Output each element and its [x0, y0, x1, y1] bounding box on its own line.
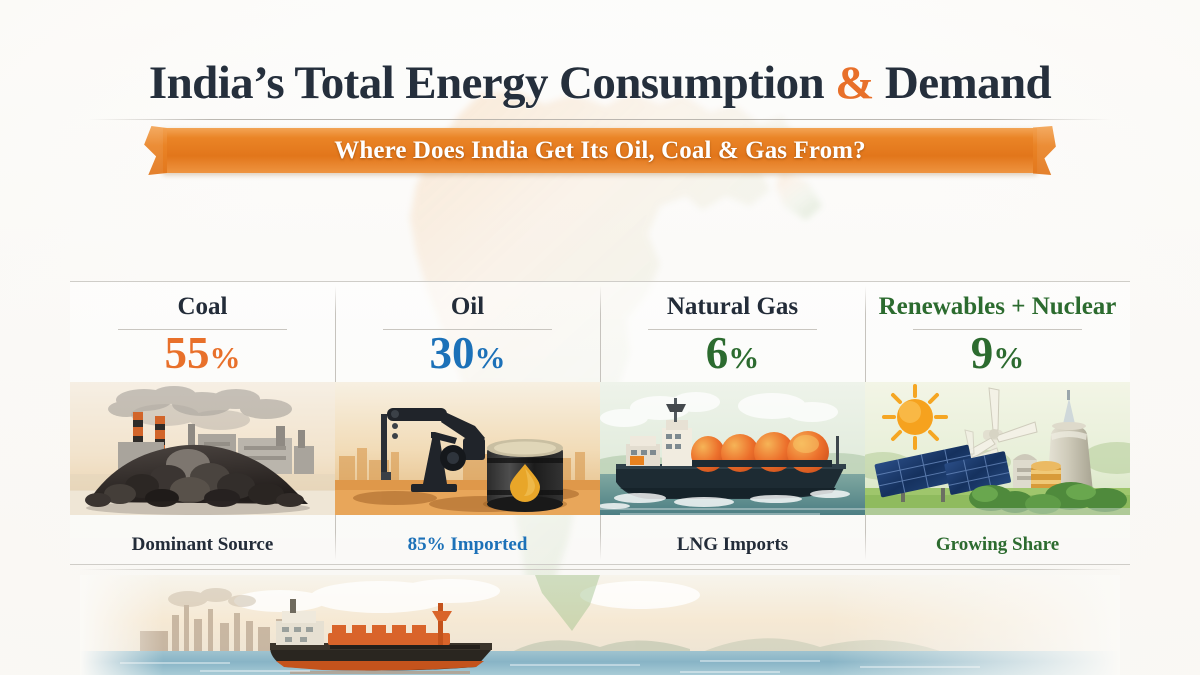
stat-caption-renewables-nuclear: Growing Share [865, 534, 1130, 556]
title-divider [88, 119, 1112, 120]
footer-divider [80, 569, 1120, 570]
stat-header-natural-gas: Natural Gas 6% [600, 282, 865, 378]
stat-unit-natural-gas: % [728, 340, 759, 375]
stat-label-coal: Coal [70, 293, 335, 321]
subtitle-banner-label: Where Does India Get Its Oil, Coal & Gas… [163, 128, 1037, 173]
energy-mix-columns: Coal 55% [70, 282, 1130, 564]
lng-carrier-ship-icon [600, 382, 865, 515]
stat-column-oil[interactable]: Oil 30% [335, 282, 600, 564]
stat-column-renewables-nuclear[interactable]: Renewables + Nuclear 9% [865, 282, 1130, 564]
title-text-secondary: Demand [874, 57, 1051, 109]
stat-number-natural-gas: 6 [706, 328, 729, 378]
stat-value-coal: 55% [70, 328, 335, 383]
stat-header-renewables-nuclear: Renewables + Nuclear 9% [865, 282, 1130, 378]
stat-unit-coal: % [210, 340, 241, 375]
infographic-canvas: India’s Total Energy Consumption & Deman… [0, 0, 1200, 675]
stat-number-oil: 30 [430, 328, 475, 378]
solar-wind-nuclear-icon [865, 382, 1130, 515]
stat-column-coal[interactable]: Coal 55% [70, 282, 335, 564]
stat-unit-renewables-nuclear: % [993, 340, 1024, 375]
stat-caption-coal: Dominant Source [70, 534, 335, 556]
stat-value-oil: 30% [335, 328, 600, 383]
stat-value-natural-gas: 6% [600, 328, 865, 383]
oil-tanker-refinery-seascape-icon [80, 575, 1120, 675]
oil-pumpjack-barrel-icon [335, 382, 600, 515]
stat-caption-oil: 85% Imported [335, 534, 600, 556]
stat-header-coal: Coal 55% [70, 282, 335, 378]
stat-value-renewables-nuclear: 9% [865, 328, 1130, 383]
stat-number-renewables-nuclear: 9 [971, 328, 994, 378]
title-ampersand: & [835, 57, 874, 109]
page-title: India’s Total Energy Consumption & Deman… [0, 56, 1200, 110]
subtitle-banner: Where Does India Get Its Oil, Coal & Gas… [163, 128, 1037, 173]
coal-pile-power-plant-icon [70, 382, 335, 515]
stat-label-renewables-nuclear: Renewables + Nuclear [865, 293, 1130, 321]
stat-column-natural-gas[interactable]: Natural Gas 6% [600, 282, 865, 564]
stat-label-natural-gas: Natural Gas [600, 293, 865, 321]
stat-header-oil: Oil 30% [335, 282, 600, 378]
stat-caption-natural-gas: LNG Imports [600, 534, 865, 556]
stat-label-oil: Oil [335, 293, 600, 321]
stat-unit-oil: % [475, 340, 506, 375]
stat-number-coal: 55 [165, 328, 210, 378]
energy-mix-card: Coal 55% [70, 281, 1130, 565]
title-text-primary: India’s Total Energy Consumption [149, 57, 835, 109]
